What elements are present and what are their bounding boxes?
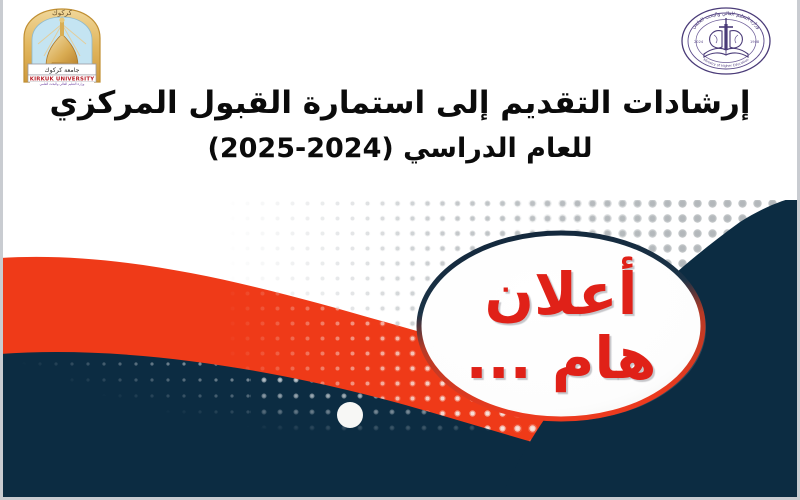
page-title: إرشادات التقديم إلى استمارة القبول المرك… [0, 88, 800, 162]
announcement-callout: أعلان هام ... [414, 229, 708, 423]
svg-text:1908: 1908 [750, 40, 760, 44]
callout-text: أعلان هام ... [414, 229, 708, 423]
logo-left-arabic-name: جامعة كركوك [45, 67, 80, 74]
ministry-emblem-logo: وزارة التعليم العالي والبحث العلمي Minis… [678, 4, 774, 78]
title-line-1: إرشادات التقديم إلى استمارة القبول المرك… [0, 88, 800, 135]
announcement-banner: جامعة كركوك KIRKUK UNIVERSITY وزارة التع… [0, 0, 800, 500]
callout-line-2: هام ... [466, 329, 657, 387]
accent-dot [337, 402, 363, 428]
callout-line-1: أعلان [484, 265, 637, 329]
kirkuk-university-logo: جامعة كركوك KIRKUK UNIVERSITY وزارة التع… [8, 4, 116, 86]
title-line-2: للعام الدراسي (2024-2025) [0, 135, 800, 162]
svg-text:2024: 2024 [694, 40, 704, 44]
svg-text:كركوك: كركوك [52, 9, 73, 17]
